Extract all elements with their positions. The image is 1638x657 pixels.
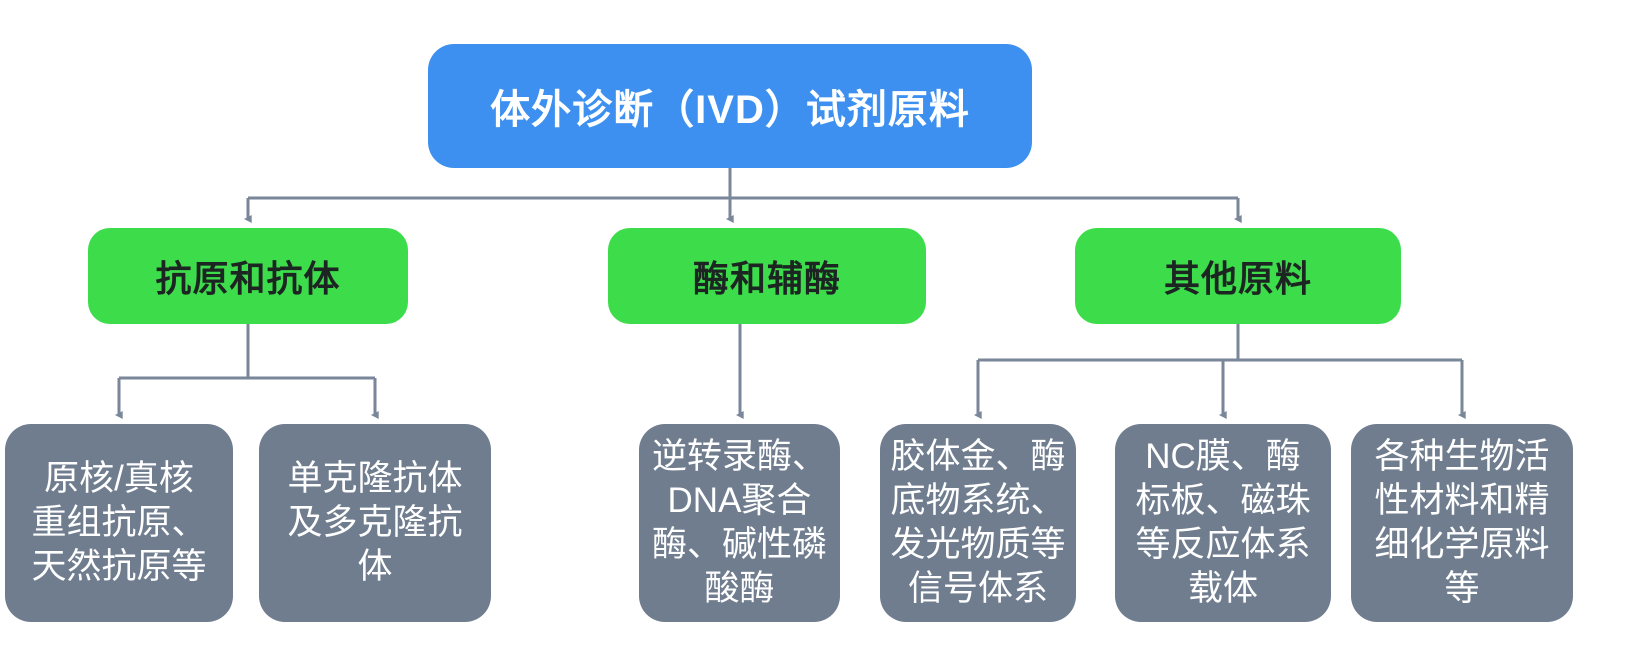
category-node-enzymes-coenzymes[interactable]: 酶和辅酶 xyxy=(608,228,926,324)
leaf-node-monoclonal-polyclonal-antibodies[interactable]: 单克隆抗体 及多克隆抗 体 xyxy=(259,424,491,622)
leaf-node-reverse-transcriptase-polymerase[interactable]: 逆转录酶、 DNA聚合 酶、碱性磷 酸酶 xyxy=(639,424,840,622)
category-node-antigens-antibodies[interactable]: 抗原和抗体 xyxy=(88,228,408,324)
category-node-other-materials[interactable]: 其他原料 xyxy=(1075,228,1401,324)
leaf-node-reaction-carriers[interactable]: NC膜、酶 标板、磁珠 等反应体系 载体 xyxy=(1115,424,1331,622)
leaf-node-bioactive-fine-chemicals[interactable]: 各种生物活 性材料和精 细化学原料 等 xyxy=(1351,424,1573,622)
leaf-node-recombinant-antigens[interactable]: 原核/真核 重组抗原、 天然抗原等 xyxy=(5,424,233,622)
root-node[interactable]: 体外诊断（IVD）试剂原料 xyxy=(428,44,1032,168)
diagram-canvas: 体外诊断（IVD）试剂原料 抗原和抗体 酶和辅酶 其他原料 原核/真核 重组抗原… xyxy=(0,0,1638,657)
leaf-node-signal-systems[interactable]: 胶体金、酶 底物系统、 发光物质等 信号体系 xyxy=(880,424,1076,622)
